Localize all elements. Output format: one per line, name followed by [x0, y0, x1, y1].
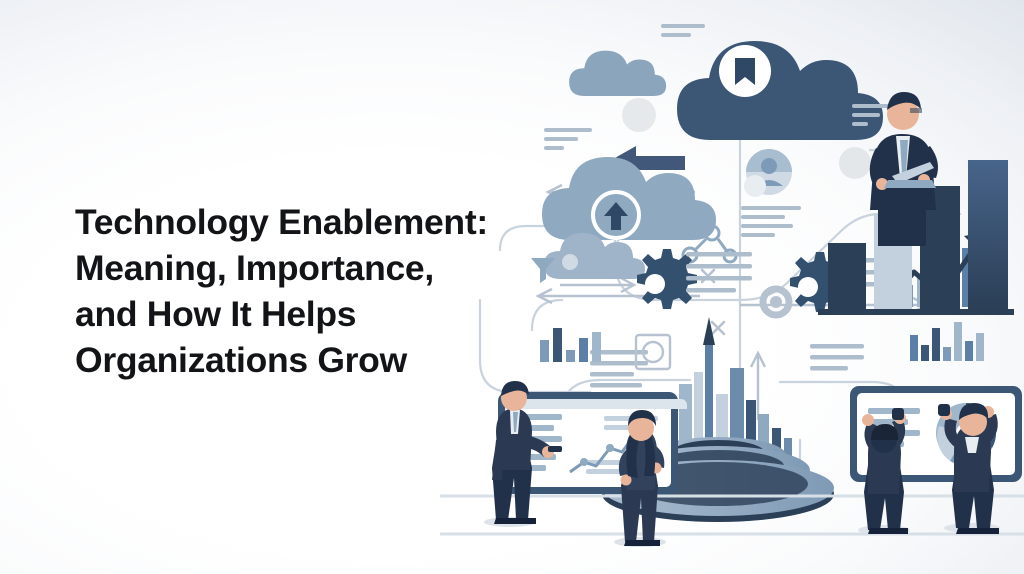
decor-circle-pale [622, 98, 656, 132]
arrow-right-thin-2 [560, 278, 634, 292]
cloud-secure-dark [677, 41, 883, 140]
cloud-upload-light [542, 157, 716, 240]
hero-banner: Technology Enablement: Meaning, Importan… [0, 0, 1024, 574]
cloud-small-top [569, 51, 666, 96]
bar-chart-mini-left [540, 328, 601, 362]
gear-outline-small [763, 289, 789, 315]
decor-circle-pale-2 [839, 147, 871, 179]
plus-sparkle-icon-2 [712, 322, 724, 334]
hero-illustration [440, 0, 1024, 574]
image-placeholder-icon-2 [536, 96, 564, 124]
cloud-funnel-small [531, 233, 645, 283]
user-avatar-badge [744, 149, 792, 197]
bar-chart-mini-right [910, 322, 984, 361]
